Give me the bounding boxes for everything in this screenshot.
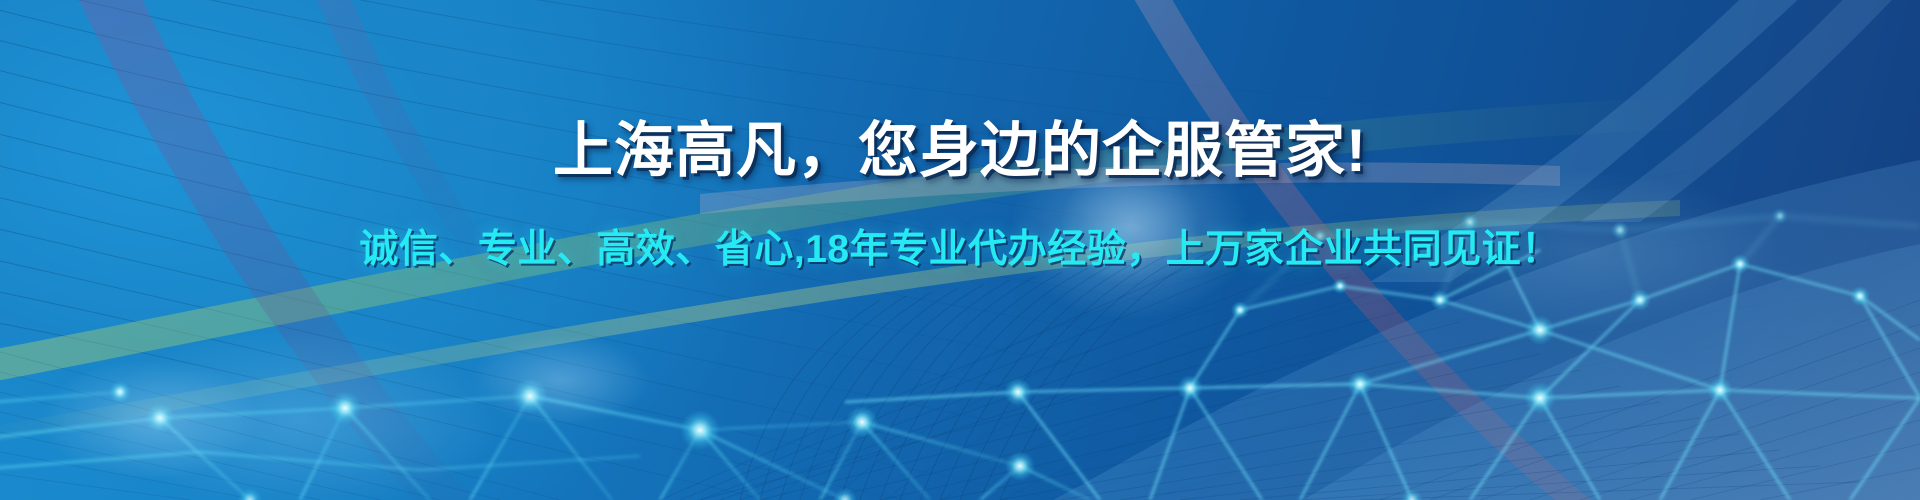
banner-subheadline: 诚信、专业、高效、省心,18年专业代办经验，上万家企业共同见证！ [359,229,1560,272]
banner-content: 上海高凡，您身边的企服管家! 诚信、专业、高效、省心,18年专业代办经验，上万家… [0,0,1920,500]
banner-headline: 上海高凡，您身边的企服管家! [553,119,1367,184]
hero-banner: 上海高凡，您身边的企服管家! 诚信、专业、高效、省心,18年专业代办经验，上万家… [0,0,1920,500]
